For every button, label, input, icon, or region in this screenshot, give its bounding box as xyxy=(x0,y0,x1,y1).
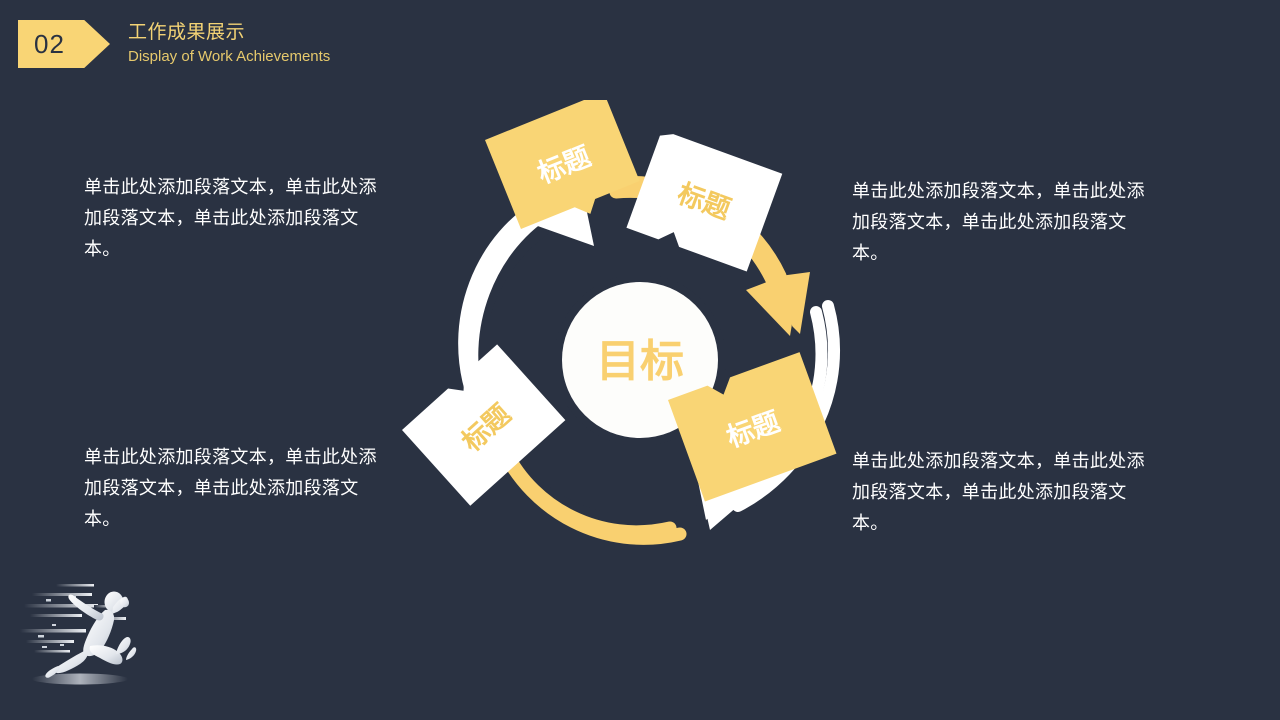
running-man-icon xyxy=(8,572,168,707)
center-label: 目标 xyxy=(596,336,684,387)
section-number: 02 xyxy=(34,31,65,57)
section-number-badge: 02 xyxy=(18,20,110,68)
cycle-diagram: 目标 标题 标题 标题 标题 xyxy=(380,100,900,620)
paragraph-top-left: 单击此处添加段落文本，单击此处添加段落文本，单击此处添加段落文本。 xyxy=(84,172,394,265)
header-text-group: 工作成果展示 Display of Work Achievements xyxy=(128,21,330,66)
page-title: 工作成果展示 xyxy=(128,21,330,45)
paragraph-bottom-left: 单击此处添加段落文本，单击此处添加段落文本，单击此处添加段落文本。 xyxy=(84,442,394,535)
slide-header: 02 工作成果展示 Display of Work Achievements xyxy=(18,18,330,70)
slide-canvas: 02 工作成果展示 Display of Work Achievements 单… xyxy=(0,0,1280,720)
page-subtitle: Display of Work Achievements xyxy=(128,47,330,67)
